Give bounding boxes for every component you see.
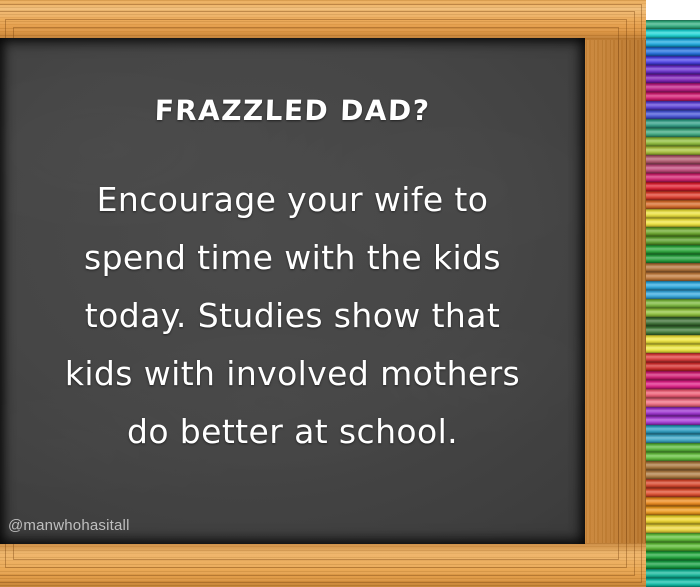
colored-pencil (645, 389, 700, 398)
colored-pencil (645, 245, 700, 254)
colored-pencil (645, 533, 700, 542)
colored-pencil (645, 380, 700, 389)
chalkboard-surface: FRAZZLED DAD? Encourage your wife to spe… (0, 38, 585, 544)
colored-pencil (645, 326, 700, 335)
colored-pencil (645, 479, 700, 488)
headline-text: FRAZZLED DAD? (25, 94, 559, 127)
colored-pencil (645, 317, 700, 326)
body-text-line: kids with involved mothers (26, 345, 559, 403)
colored-pencil (645, 155, 700, 164)
colored-pencil (645, 65, 700, 74)
colored-pencil (645, 164, 700, 173)
colored-pencil (645, 38, 700, 47)
frame-rail-top (0, 0, 646, 40)
colored-pencil (645, 425, 700, 434)
colored-pencil (645, 542, 700, 551)
colored-pencil (645, 353, 700, 362)
body-text-line: spend time with the kids (26, 229, 559, 287)
colored-pencil (645, 569, 700, 578)
colored-pencil (645, 137, 700, 146)
colored-pencil (645, 47, 700, 56)
watermark-handle: @manwhohasitall (8, 517, 130, 534)
board-content: FRAZZLED DAD? Encourage your wife to spe… (0, 38, 585, 544)
colored-pencil (645, 308, 700, 317)
colored-pencil (645, 56, 700, 65)
colored-pencil (645, 398, 700, 407)
colored-pencil (645, 335, 700, 344)
colored-pencil (645, 443, 700, 452)
colored-pencil (645, 119, 700, 128)
colored-pencil (645, 524, 700, 533)
colored-pencil (645, 146, 700, 155)
colored-pencil (645, 74, 700, 83)
colored-pencil (645, 344, 700, 353)
colored-pencil (645, 551, 700, 560)
colored-pencil (645, 92, 700, 101)
colored-pencil (645, 281, 700, 290)
colored-pencil (645, 236, 700, 245)
colored-pencil (645, 488, 700, 497)
colored-pencil (645, 29, 700, 38)
colored-pencil (645, 416, 700, 425)
colored-pencil (645, 560, 700, 569)
colored-pencil (645, 263, 700, 272)
colored-pencil (645, 461, 700, 470)
colored-pencil (645, 272, 700, 281)
colored-pencil (645, 290, 700, 299)
colored-pencil (645, 254, 700, 263)
chalkboard-meme-image: FRAZZLED DAD? Encourage your wife to spe… (0, 0, 700, 587)
colored-pencil (645, 452, 700, 461)
colored-pencil (645, 182, 700, 191)
body-text-line: do better at school. (26, 403, 559, 461)
colored-pencil (645, 407, 700, 416)
colored-pencil (645, 200, 700, 209)
colored-pencil (645, 173, 700, 182)
body-text-line: Encourage your wife to (26, 171, 559, 229)
colored-pencil (645, 497, 700, 506)
colored-pencil (645, 434, 700, 443)
body-text-block: Encourage your wife to spend time with t… (26, 171, 559, 461)
colored-pencil (645, 128, 700, 137)
colored-pencil (645, 506, 700, 515)
colored-pencil (645, 101, 700, 110)
colored-pencil (645, 362, 700, 371)
colored-pencil (645, 578, 700, 587)
colored-pencil (645, 209, 700, 218)
body-text-line: today. Studies show that (26, 287, 559, 345)
colored-pencil (645, 299, 700, 308)
colored-pencil (645, 227, 700, 236)
colored-pencil (645, 470, 700, 479)
colored-pencils-strip (645, 20, 700, 587)
colored-pencil (645, 218, 700, 227)
colored-pencil (645, 191, 700, 200)
colored-pencil (645, 83, 700, 92)
colored-pencil (645, 371, 700, 380)
colored-pencil (645, 110, 700, 119)
colored-pencil (645, 515, 700, 524)
frame-rail-bottom (0, 543, 646, 587)
colored-pencil (645, 20, 700, 29)
